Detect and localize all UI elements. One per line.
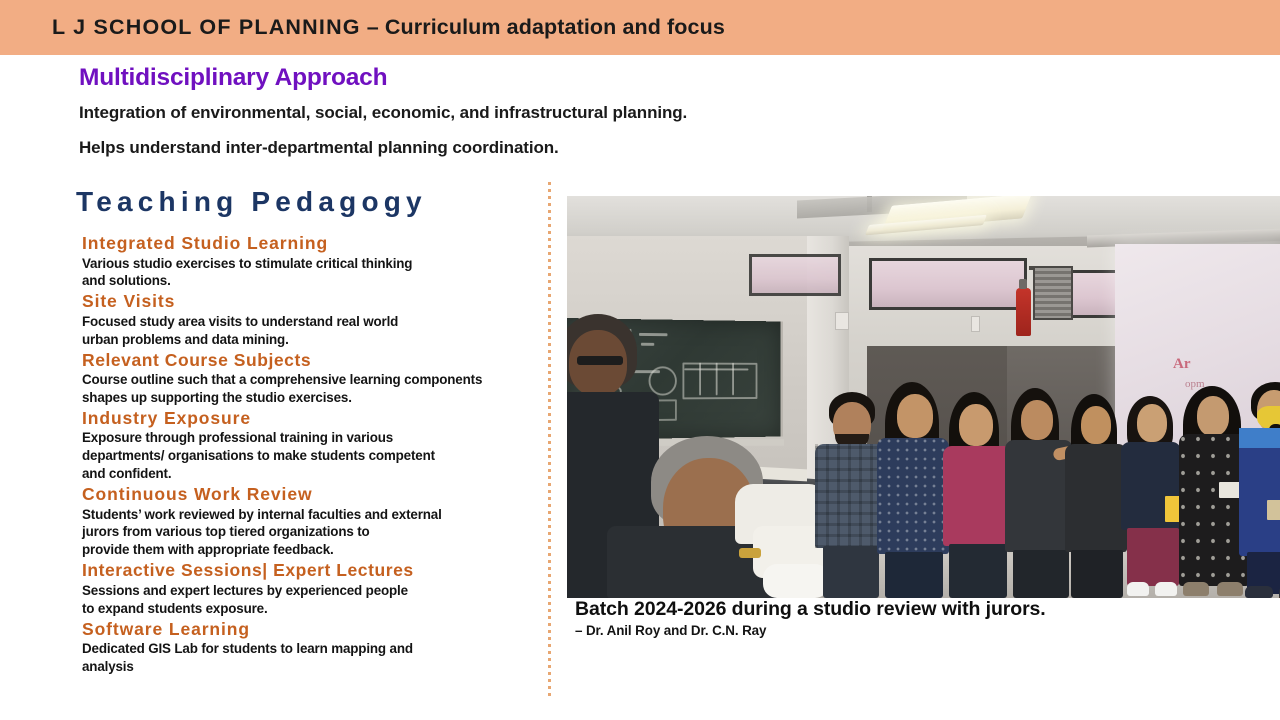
list-item: Relevant Course Subjects Course outline … [82,350,544,407]
pedagogy-item-desc: Exposure through professional training i… [82,429,544,483]
pedagogy-item-title: Integrated Studio Learning [82,233,544,255]
list-item: Continuous Work Review Students’ work re… [82,484,544,559]
pedagogy-item-desc: Course outline such that a comprehensive… [82,371,544,407]
page-title-rest: – Curriculum adaptation and focus [361,15,725,39]
window-strip [749,254,841,296]
pedagogy-item-title: Interactive Sessions| Expert Lectures [82,560,544,582]
pedagogy-item-title: Continuous Work Review [82,484,544,506]
vertical-dotted-divider [548,182,551,700]
pedagogy-item-desc: Focused study area visits to understand … [82,313,544,349]
approach-line-2: Helps understand inter-departmental plan… [79,138,559,158]
studio-review-photo: Ar opm [567,196,1280,598]
slide-root: L J SCHOOL OF PLANNING – Curriculum adap… [0,0,1280,720]
pedagogy-item-desc: Students’ work reviewed by internal facu… [82,506,544,560]
switch-box [971,316,980,332]
fire-extinguisher [1016,288,1031,336]
page-title: L J SCHOOL OF PLANNING – Curriculum adap… [52,15,725,40]
photo-scene: Ar opm [567,196,1280,598]
approach-heading: Multidisciplinary Approach [79,64,387,92]
list-item: Industry Exposure Exposure through profe… [82,408,544,483]
pedagogy-list: Integrated Studio Learning Various studi… [82,233,544,677]
pedagogy-item-title: Site Visits [82,291,544,313]
list-item: Site Visits Focused study area visits to… [82,291,544,348]
pedagogy-item-desc: Dedicated GIS Lab for students to learn … [82,640,544,676]
photo-caption-credit: – Dr. Anil Roy and Dr. C.N. Ray [575,623,766,638]
approach-line-1: Integration of environmental, social, ec… [79,103,687,123]
pedagogy-item-title: Software Learning [82,619,544,641]
page-title-lead: L J SCHOOL OF PLANNING [52,15,361,39]
pedagogy-heading: Teaching Pedagogy [76,186,427,218]
pedagogy-item-title: Industry Exposure [82,408,544,430]
list-item: Software Learning Dedicated GIS Lab for … [82,619,544,676]
projector-screen-text-a: Ar [1173,356,1191,373]
photo-caption: Batch 2024-2026 during a studio review w… [575,598,1046,621]
wall-vent [1033,266,1073,320]
pedagogy-item-desc: Sessions and expert lectures by experien… [82,582,544,618]
list-item: Integrated Studio Learning Various studi… [82,233,544,290]
pedagogy-item-desc: Various studio exercises to stimulate cr… [82,255,544,291]
pedagogy-item-title: Relevant Course Subjects [82,350,544,372]
switch-box [835,312,849,330]
window-strip [869,258,1027,310]
list-item: Interactive Sessions| Expert Lectures Se… [82,560,544,617]
